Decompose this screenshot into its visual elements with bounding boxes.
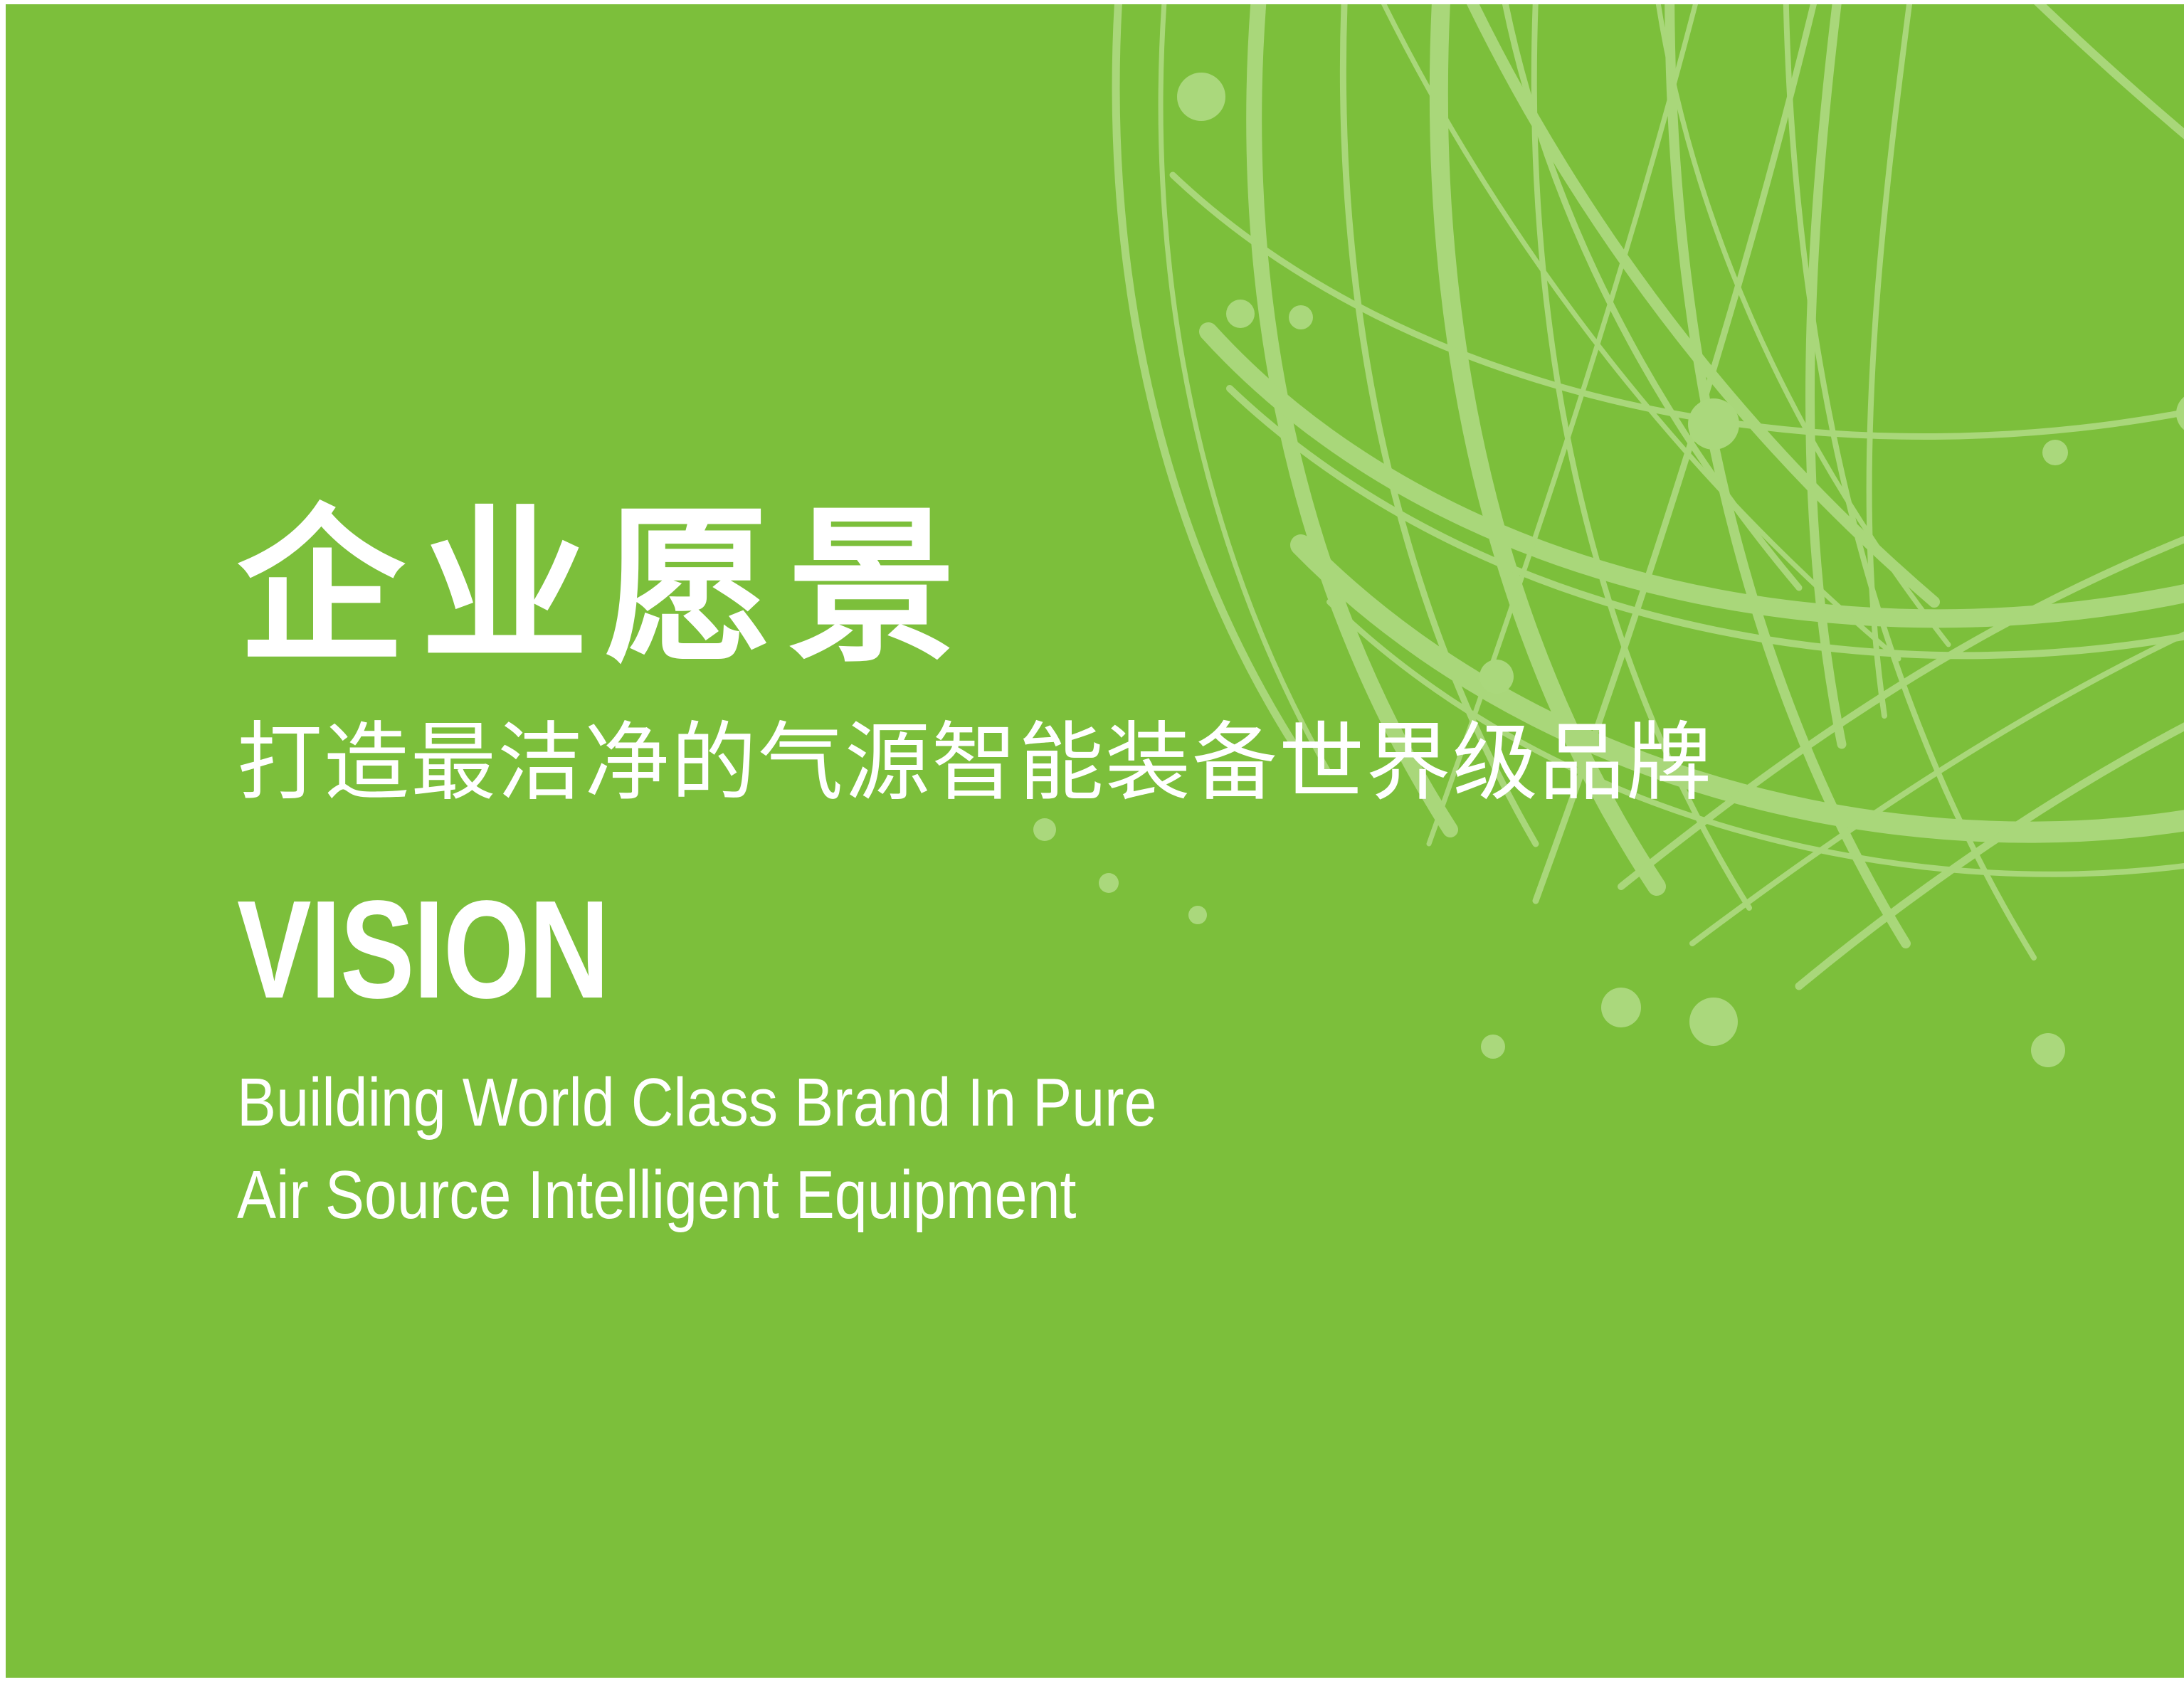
page-subtitle-chinese: 打造最洁净的气源智能装备世界级品牌	[237, 714, 1945, 812]
page-title-chinese: 企业愿景	[237, 502, 1945, 674]
slide-content: 企业愿景 打造最洁净的气源智能装备世界级品牌 VISION Building W…	[237, 502, 1945, 1242]
vision-heading-english: VISION	[237, 880, 1603, 1020]
vision-description-english: Building World Class Brand In Pure Air S…	[237, 1057, 1706, 1242]
description-line-1: Building World Class Brand In Pure	[237, 1057, 1706, 1150]
slide-canvas: 企业愿景 打造最洁净的气源智能装备世界级品牌 VISION Building W…	[6, 4, 2184, 1678]
description-line-2: Air Source Intelligent Equipment	[237, 1149, 1706, 1242]
